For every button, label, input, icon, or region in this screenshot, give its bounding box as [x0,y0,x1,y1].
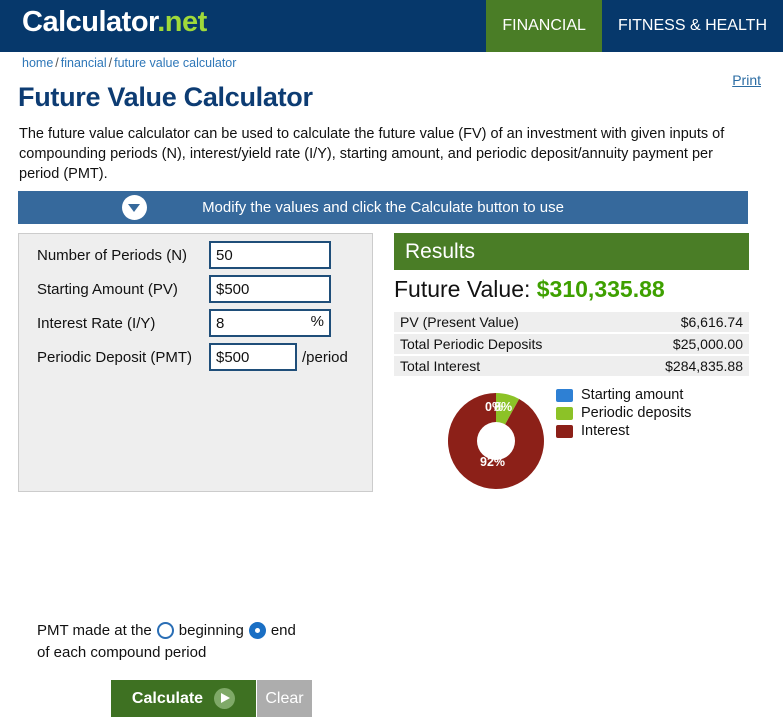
table-row: PV (Present Value) $6,616.74 [394,312,749,333]
pmt-timing-group: PMT made at thebeginningend of each comp… [37,620,367,664]
future-value-label: Future Value: [394,276,530,302]
calculate-button[interactable]: Calculate [111,680,256,717]
modify-values-bar[interactable]: Modify the values and click the Calculat… [18,191,748,224]
input-form-panel: Number of Periods (N) Starting Amount (P… [18,233,373,492]
nav-item-financial-label: FINANCIAL [502,17,586,35]
breadcrumb-separator-1: / [55,56,58,70]
field-row-interest-rate: Interest Rate (I/Y) % [37,309,331,337]
table-row: Total Periodic Deposits $25,000.00 [394,333,749,355]
legend-item-periodic-deposits: Periodic deposits [556,404,691,422]
breadcrumb-separator-2: / [109,56,112,70]
chart-legend: Starting amount Periodic deposits Intere… [556,386,691,440]
legend-item-interest: Interest [556,422,691,440]
radio-beginning-label[interactable]: beginning [179,622,244,639]
input-number-of-periods[interactable] [209,241,331,269]
breadcrumb-future-value-calculator[interactable]: future value calculator [114,56,236,70]
field-row-starting-amount: Starting Amount (PV) [37,275,331,303]
play-icon [214,688,235,709]
results-header: Results [394,233,749,270]
clear-button[interactable]: Clear [257,680,312,717]
legend-swatch-starting-amount [556,389,573,402]
row-value-total-periodic-deposits: $25,000.00 [607,333,749,355]
field-row-periods: Number of Periods (N) [37,241,331,269]
label-starting-amount: Starting Amount (PV) [37,281,209,298]
pie-label-interest: 92% [480,455,505,469]
radio-beginning[interactable] [157,622,174,639]
row-label-total-interest: Total Interest [394,355,607,377]
breadcrumb-home[interactable]: home [22,56,53,70]
chevron-down-glyph [128,204,140,212]
nav-item-fitness-health-label: FITNESS & HEALTH [618,17,767,35]
input-starting-amount[interactable] [209,275,331,303]
legend-swatch-interest [556,425,573,438]
main-nav: FINANCIAL FITNESS & HEALTH [486,0,783,52]
future-value-amount: $310,335.88 [537,276,665,302]
page-title: Future Value Calculator [18,82,313,113]
breakdown-donut-chart: 0% 8% 92% [440,383,555,499]
table-row: Total Interest $284,835.88 [394,355,749,377]
chevron-down-icon[interactable] [122,195,147,220]
input-periodic-deposit[interactable] [209,343,297,371]
print-link[interactable]: Print [732,72,761,88]
site-logo[interactable]: Calculator.net [22,6,207,39]
field-row-periodic-deposit: Periodic Deposit (PMT) /period [37,343,348,371]
interest-rate-input-wrap: % [209,309,331,337]
row-value-pv: $6,616.74 [607,312,749,333]
pmt-timing-suffix: of each compound period [37,644,206,661]
legend-label-interest: Interest [581,423,629,439]
calculator-page: Calculator.net FINANCIAL FITNESS & HEALT… [0,0,783,512]
nav-item-fitness-health[interactable]: FITNESS & HEALTH [602,0,783,52]
intro-text: The future value calculator can be used … [19,124,749,184]
pmt-timing-prefix: PMT made at the [37,622,152,639]
site-header: Calculator.net FINANCIAL FITNESS & HEALT… [0,0,783,52]
label-number-of-periods: Number of Periods (N) [37,247,209,264]
future-value-line: Future Value: $310,335.88 [394,276,665,303]
calculate-button-label: Calculate [132,690,203,708]
row-label-total-periodic-deposits: Total Periodic Deposits [394,333,607,355]
label-interest-rate: Interest Rate (I/Y) [37,315,209,332]
logo-net: net [165,6,207,38]
percent-sign: % [311,313,324,330]
periodic-deposit-suffix: /period [302,349,348,366]
nav-item-financial[interactable]: FINANCIAL [486,0,602,52]
row-label-pv: PV (Present Value) [394,312,607,333]
logo-dot: . [157,6,165,38]
logo-main: Calculator [22,6,157,38]
legend-label-starting-amount: Starting amount [581,387,683,403]
row-value-total-interest: $284,835.88 [607,355,749,377]
radio-end[interactable] [249,622,266,639]
legend-item-starting-amount: Starting amount [556,386,691,404]
breadcrumb-financial[interactable]: financial [61,56,107,70]
legend-label-periodic-deposits: Periodic deposits [581,405,691,421]
results-table: PV (Present Value) $6,616.74 Total Perio… [394,312,749,378]
label-periodic-deposit: Periodic Deposit (PMT) [37,349,209,366]
pie-label-periodic-deposits: 8% [494,400,512,414]
legend-swatch-periodic-deposits [556,407,573,420]
radio-end-label[interactable]: end [271,622,296,639]
breadcrumb: home/financial/future value calculator [22,56,236,70]
